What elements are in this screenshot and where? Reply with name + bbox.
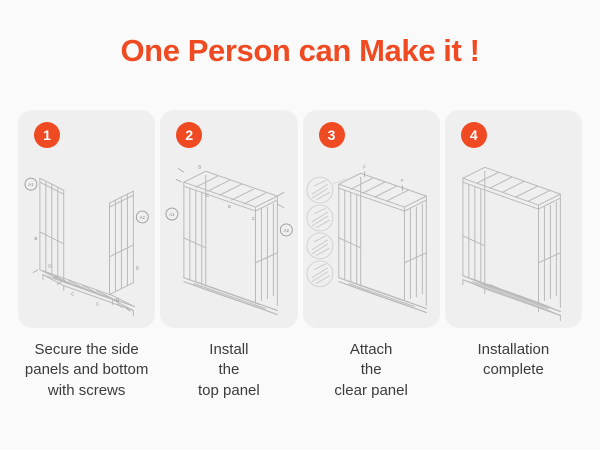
step-caption-2: Install the top panel bbox=[160, 340, 297, 401]
svg-text:B: B bbox=[136, 266, 139, 271]
svg-text:C: C bbox=[206, 193, 210, 198]
step-badge-4: 4 bbox=[461, 122, 487, 148]
svg-text:F: F bbox=[401, 178, 404, 183]
svg-text:A1: A1 bbox=[28, 182, 34, 187]
step-caption-3: Attach the clear panel bbox=[303, 340, 440, 401]
svg-text:C: C bbox=[71, 292, 75, 297]
captions-row: Secure the side panels and bottom with s… bbox=[18, 340, 582, 401]
svg-text:F: F bbox=[363, 164, 366, 169]
step-badge-1: 1 bbox=[34, 122, 60, 148]
svg-text:A2: A2 bbox=[140, 215, 146, 220]
svg-text:E: E bbox=[228, 204, 231, 209]
page-title: One Person can Make it ! bbox=[0, 34, 600, 68]
step-card-1[interactable]: 1 bbox=[18, 110, 155, 328]
step-card-4[interactable]: 4 bbox=[445, 110, 582, 328]
svg-text:A1: A1 bbox=[169, 212, 175, 217]
step-caption-1: Secure the side panels and bottom with s… bbox=[18, 340, 155, 401]
step-caption-4: Installation complete bbox=[445, 340, 582, 401]
step-card-3[interactable]: 3 bbox=[303, 110, 440, 328]
svg-text:C: C bbox=[96, 302, 100, 307]
fastener-detail-callouts bbox=[306, 177, 346, 286]
steps-row: 1 bbox=[18, 110, 582, 328]
step-card-2[interactable]: 2 bbox=[160, 110, 297, 328]
svg-text:A2: A2 bbox=[284, 228, 290, 233]
svg-text:B: B bbox=[34, 236, 37, 241]
svg-text:B: B bbox=[199, 164, 202, 169]
svg-text:D: D bbox=[116, 298, 120, 303]
step-badge-3: 3 bbox=[319, 122, 345, 148]
instruction-page: One Person can Make it ! 1 bbox=[0, 0, 600, 450]
